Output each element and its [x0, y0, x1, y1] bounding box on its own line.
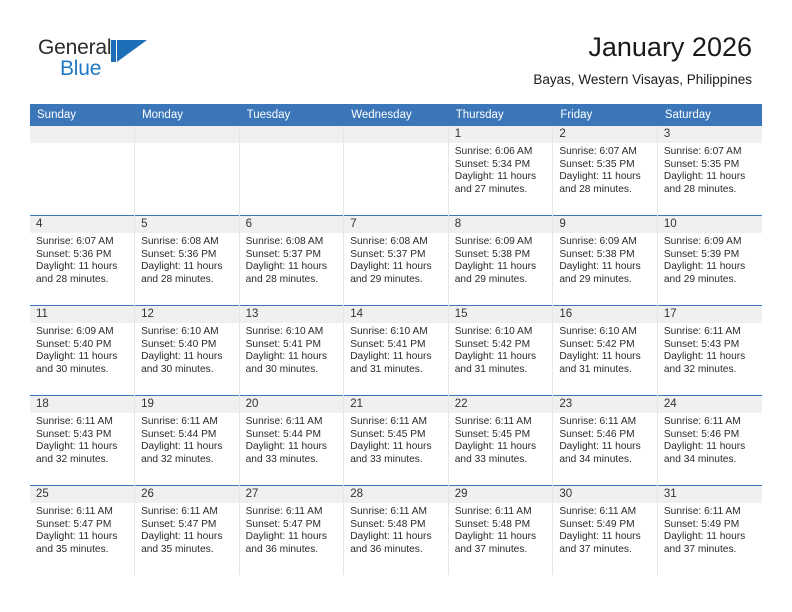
daylight-text-line2: and 37 minutes. — [559, 544, 651, 557]
calendar-day-cell[interactable]: 1Sunrise: 6:06 AMSunset: 5:34 PMDaylight… — [448, 126, 553, 216]
day-cell-details: Sunrise: 6:10 AMSunset: 5:40 PMDaylight:… — [135, 323, 239, 376]
day-number: 21 — [344, 396, 448, 413]
sunset-text: Sunset: 5:37 PM — [246, 249, 338, 262]
daylight-text-line2: and 30 minutes. — [36, 364, 128, 377]
location-subtitle: Bayas, Western Visayas, Philippines — [533, 70, 752, 90]
sunset-text: Sunset: 5:45 PM — [350, 429, 442, 442]
calendar-table: Sunday Monday Tuesday Wednesday Thursday… — [30, 104, 762, 575]
day-cell-details: Sunrise: 6:11 AMSunset: 5:46 PMDaylight:… — [658, 413, 762, 466]
day-cell-inner: 2Sunrise: 6:07 AMSunset: 5:35 PMDaylight… — [553, 126, 657, 215]
daylight-text-line2: and 36 minutes. — [350, 544, 442, 557]
sunrise-text: Sunrise: 6:06 AM — [455, 146, 547, 159]
day-cell-inner: 29Sunrise: 6:11 AMSunset: 5:48 PMDayligh… — [449, 486, 553, 575]
day-cell-inner: 11Sunrise: 6:09 AMSunset: 5:40 PMDayligh… — [30, 306, 134, 395]
day-cell-inner — [344, 126, 448, 215]
calendar-day-cell[interactable]: 19Sunrise: 6:11 AMSunset: 5:44 PMDayligh… — [135, 396, 240, 486]
daylight-text-line1: Daylight: 11 hours — [559, 531, 651, 544]
daylight-text-line2: and 30 minutes. — [246, 364, 338, 377]
calendar-week-row: 18Sunrise: 6:11 AMSunset: 5:43 PMDayligh… — [30, 396, 762, 486]
calendar-day-cell[interactable]: 20Sunrise: 6:11 AMSunset: 5:44 PMDayligh… — [239, 396, 344, 486]
day-number — [30, 126, 134, 143]
day-number: 1 — [449, 126, 553, 143]
daylight-text-line2: and 33 minutes. — [350, 454, 442, 467]
day-number: 3 — [658, 126, 762, 143]
day-cell-details: Sunrise: 6:08 AMSunset: 5:36 PMDaylight:… — [135, 233, 239, 286]
daylight-text-line2: and 33 minutes. — [246, 454, 338, 467]
sunset-text: Sunset: 5:49 PM — [664, 519, 756, 532]
weekday-header-wednesday: Wednesday — [344, 104, 449, 126]
sunset-text: Sunset: 5:46 PM — [664, 429, 756, 442]
sunrise-text: Sunrise: 6:11 AM — [455, 506, 547, 519]
day-number: 12 — [135, 306, 239, 323]
brand-name-blue: Blue — [60, 57, 101, 81]
daylight-text-line2: and 32 minutes. — [36, 454, 128, 467]
daylight-text-line1: Daylight: 11 hours — [664, 531, 756, 544]
sunset-text: Sunset: 5:41 PM — [246, 339, 338, 352]
day-cell-details: Sunrise: 6:10 AMSunset: 5:41 PMDaylight:… — [344, 323, 448, 376]
day-number: 26 — [135, 486, 239, 503]
day-cell-inner: 25Sunrise: 6:11 AMSunset: 5:47 PMDayligh… — [30, 486, 134, 575]
daylight-text-line1: Daylight: 11 hours — [141, 261, 233, 274]
weekday-header-tuesday: Tuesday — [239, 104, 344, 126]
daylight-text-line2: and 36 minutes. — [246, 544, 338, 557]
sunset-text: Sunset: 5:36 PM — [141, 249, 233, 262]
calendar-day-cell[interactable]: 30Sunrise: 6:11 AMSunset: 5:49 PMDayligh… — [553, 486, 658, 576]
day-cell-details: Sunrise: 6:09 AMSunset: 5:39 PMDaylight:… — [658, 233, 762, 286]
calendar-day-cell[interactable]: 4Sunrise: 6:07 AMSunset: 5:36 PMDaylight… — [30, 216, 135, 306]
day-number: 31 — [658, 486, 762, 503]
calendar-day-cell — [344, 126, 449, 216]
day-cell-inner: 22Sunrise: 6:11 AMSunset: 5:45 PMDayligh… — [449, 396, 553, 485]
weekday-header-thursday: Thursday — [448, 104, 553, 126]
sunset-text: Sunset: 5:48 PM — [350, 519, 442, 532]
sunset-text: Sunset: 5:49 PM — [559, 519, 651, 532]
calendar-week-row: 11Sunrise: 6:09 AMSunset: 5:40 PMDayligh… — [30, 306, 762, 396]
sunrise-text: Sunrise: 6:08 AM — [141, 236, 233, 249]
day-number: 29 — [449, 486, 553, 503]
day-cell-details: Sunrise: 6:11 AMSunset: 5:47 PMDaylight:… — [135, 503, 239, 556]
sunset-text: Sunset: 5:42 PM — [455, 339, 547, 352]
calendar-day-cell[interactable]: 6Sunrise: 6:08 AMSunset: 5:37 PMDaylight… — [239, 216, 344, 306]
sunrise-text: Sunrise: 6:07 AM — [36, 236, 128, 249]
daylight-text-line2: and 31 minutes. — [350, 364, 442, 377]
calendar-day-cell[interactable]: 7Sunrise: 6:08 AMSunset: 5:37 PMDaylight… — [344, 216, 449, 306]
day-cell-inner — [135, 126, 239, 215]
day-cell-details: Sunrise: 6:07 AMSunset: 5:36 PMDaylight:… — [30, 233, 134, 286]
day-cell-inner: 27Sunrise: 6:11 AMSunset: 5:47 PMDayligh… — [240, 486, 344, 575]
calendar-day-cell[interactable]: 22Sunrise: 6:11 AMSunset: 5:45 PMDayligh… — [448, 396, 553, 486]
daylight-text-line1: Daylight: 11 hours — [246, 261, 338, 274]
calendar-day-cell[interactable]: 31Sunrise: 6:11 AMSunset: 5:49 PMDayligh… — [657, 486, 762, 576]
day-cell-details: Sunrise: 6:08 AMSunset: 5:37 PMDaylight:… — [344, 233, 448, 286]
daylight-text-line1: Daylight: 11 hours — [350, 261, 442, 274]
calendar-week-row: 25Sunrise: 6:11 AMSunset: 5:47 PMDayligh… — [30, 486, 762, 576]
day-cell-details: Sunrise: 6:09 AMSunset: 5:40 PMDaylight:… — [30, 323, 134, 376]
day-number: 28 — [344, 486, 448, 503]
calendar-day-cell[interactable]: 23Sunrise: 6:11 AMSunset: 5:46 PMDayligh… — [553, 396, 658, 486]
sunrise-text: Sunrise: 6:11 AM — [36, 506, 128, 519]
day-cell-details: Sunrise: 6:11 AMSunset: 5:46 PMDaylight:… — [553, 413, 657, 466]
day-cell-inner: 9Sunrise: 6:09 AMSunset: 5:38 PMDaylight… — [553, 216, 657, 305]
calendar-day-cell[interactable]: 26Sunrise: 6:11 AMSunset: 5:47 PMDayligh… — [135, 486, 240, 576]
calendar-page: General Blue January 2026 Bayas, Western… — [0, 0, 792, 612]
sunrise-text: Sunrise: 6:09 AM — [455, 236, 547, 249]
daylight-text-line1: Daylight: 11 hours — [455, 261, 547, 274]
day-cell-inner: 18Sunrise: 6:11 AMSunset: 5:43 PMDayligh… — [30, 396, 134, 485]
sunset-text: Sunset: 5:47 PM — [36, 519, 128, 532]
daylight-text-line2: and 37 minutes. — [664, 544, 756, 557]
day-number: 7 — [344, 216, 448, 233]
day-cell-details: Sunrise: 6:09 AMSunset: 5:38 PMDaylight:… — [449, 233, 553, 286]
sunrise-text: Sunrise: 6:11 AM — [141, 506, 233, 519]
daylight-text-line1: Daylight: 11 hours — [246, 441, 338, 454]
calendar-day-cell[interactable]: 15Sunrise: 6:10 AMSunset: 5:42 PMDayligh… — [448, 306, 553, 396]
sunrise-text: Sunrise: 6:11 AM — [350, 416, 442, 429]
day-cell-details: Sunrise: 6:07 AMSunset: 5:35 PMDaylight:… — [553, 143, 657, 196]
daylight-text-line1: Daylight: 11 hours — [141, 351, 233, 364]
day-number — [240, 126, 344, 143]
daylight-text-line1: Daylight: 11 hours — [664, 351, 756, 364]
sunset-text: Sunset: 5:38 PM — [455, 249, 547, 262]
sunrise-text: Sunrise: 6:10 AM — [455, 326, 547, 339]
day-cell-inner: 10Sunrise: 6:09 AMSunset: 5:39 PMDayligh… — [658, 216, 762, 305]
daylight-text-line1: Daylight: 11 hours — [141, 441, 233, 454]
logo-triangle-shape — [117, 40, 147, 62]
calendar-day-cell[interactable]: 25Sunrise: 6:11 AMSunset: 5:47 PMDayligh… — [30, 486, 135, 576]
calendar-week-row: 4Sunrise: 6:07 AMSunset: 5:36 PMDaylight… — [30, 216, 762, 306]
day-cell-details: Sunrise: 6:06 AMSunset: 5:34 PMDaylight:… — [449, 143, 553, 196]
calendar-day-cell[interactable]: 24Sunrise: 6:11 AMSunset: 5:46 PMDayligh… — [657, 396, 762, 486]
sunset-text: Sunset: 5:39 PM — [664, 249, 756, 262]
daylight-text-line2: and 29 minutes. — [455, 274, 547, 287]
sunrise-text: Sunrise: 6:11 AM — [664, 326, 756, 339]
calendar-body: 1Sunrise: 6:06 AMSunset: 5:34 PMDaylight… — [30, 126, 762, 575]
day-cell-inner: 31Sunrise: 6:11 AMSunset: 5:49 PMDayligh… — [658, 486, 762, 575]
daylight-text-line1: Daylight: 11 hours — [141, 531, 233, 544]
day-number: 4 — [30, 216, 134, 233]
calendar-day-cell[interactable]: 21Sunrise: 6:11 AMSunset: 5:45 PMDayligh… — [344, 396, 449, 486]
day-cell-inner: 24Sunrise: 6:11 AMSunset: 5:46 PMDayligh… — [658, 396, 762, 485]
sunrise-text: Sunrise: 6:11 AM — [559, 416, 651, 429]
calendar-day-cell[interactable]: 8Sunrise: 6:09 AMSunset: 5:38 PMDaylight… — [448, 216, 553, 306]
day-number: 9 — [553, 216, 657, 233]
day-cell-details: Sunrise: 6:11 AMSunset: 5:47 PMDaylight:… — [240, 503, 344, 556]
calendar-day-cell[interactable]: 9Sunrise: 6:09 AMSunset: 5:38 PMDaylight… — [553, 216, 658, 306]
daylight-text-line1: Daylight: 11 hours — [36, 531, 128, 544]
sunrise-text: Sunrise: 6:09 AM — [559, 236, 651, 249]
sunset-text: Sunset: 5:41 PM — [350, 339, 442, 352]
day-cell-details: Sunrise: 6:11 AMSunset: 5:49 PMDaylight:… — [553, 503, 657, 556]
daylight-text-line2: and 29 minutes. — [350, 274, 442, 287]
day-cell-inner: 5Sunrise: 6:08 AMSunset: 5:36 PMDaylight… — [135, 216, 239, 305]
sunset-text: Sunset: 5:40 PM — [141, 339, 233, 352]
day-number: 19 — [135, 396, 239, 413]
calendar-day-cell — [30, 126, 135, 216]
daylight-text-line1: Daylight: 11 hours — [559, 351, 651, 364]
daylight-text-line2: and 32 minutes. — [664, 364, 756, 377]
day-number: 18 — [30, 396, 134, 413]
sunrise-text: Sunrise: 6:11 AM — [36, 416, 128, 429]
daylight-text-line2: and 35 minutes. — [141, 544, 233, 557]
sunrise-text: Sunrise: 6:11 AM — [664, 416, 756, 429]
daylight-text-line2: and 28 minutes. — [559, 184, 651, 197]
page-title: January 2026 — [533, 30, 752, 64]
day-number: 16 — [553, 306, 657, 323]
day-cell-inner: 26Sunrise: 6:11 AMSunset: 5:47 PMDayligh… — [135, 486, 239, 575]
calendar-day-cell[interactable]: 29Sunrise: 6:11 AMSunset: 5:48 PMDayligh… — [448, 486, 553, 576]
day-number: 27 — [240, 486, 344, 503]
sunrise-text: Sunrise: 6:11 AM — [246, 506, 338, 519]
day-number: 25 — [30, 486, 134, 503]
sunrise-text: Sunrise: 6:11 AM — [350, 506, 442, 519]
daylight-text-line1: Daylight: 11 hours — [350, 441, 442, 454]
daylight-text-line1: Daylight: 11 hours — [246, 531, 338, 544]
day-cell-details: Sunrise: 6:11 AMSunset: 5:48 PMDaylight:… — [449, 503, 553, 556]
calendar-day-cell — [135, 126, 240, 216]
logo-bar-shape — [111, 40, 116, 62]
day-number: 13 — [240, 306, 344, 323]
day-cell-inner: 20Sunrise: 6:11 AMSunset: 5:44 PMDayligh… — [240, 396, 344, 485]
daylight-text-line2: and 34 minutes. — [664, 454, 756, 467]
day-cell-details: Sunrise: 6:11 AMSunset: 5:44 PMDaylight:… — [240, 413, 344, 466]
sunset-text: Sunset: 5:34 PM — [455, 159, 547, 172]
day-cell-inner: 28Sunrise: 6:11 AMSunset: 5:48 PMDayligh… — [344, 486, 448, 575]
calendar-day-cell — [239, 126, 344, 216]
day-cell-details: Sunrise: 6:10 AMSunset: 5:41 PMDaylight:… — [240, 323, 344, 376]
daylight-text-line1: Daylight: 11 hours — [455, 351, 547, 364]
day-cell-details: Sunrise: 6:10 AMSunset: 5:42 PMDaylight:… — [449, 323, 553, 376]
sunrise-text: Sunrise: 6:10 AM — [350, 326, 442, 339]
daylight-text-line2: and 35 minutes. — [36, 544, 128, 557]
sunrise-text: Sunrise: 6:11 AM — [559, 506, 651, 519]
day-cell-details: Sunrise: 6:11 AMSunset: 5:45 PMDaylight:… — [344, 413, 448, 466]
day-cell-inner: 12Sunrise: 6:10 AMSunset: 5:40 PMDayligh… — [135, 306, 239, 395]
daylight-text-line2: and 37 minutes. — [455, 544, 547, 557]
daylight-text-line1: Daylight: 11 hours — [246, 351, 338, 364]
daylight-text-line2: and 32 minutes. — [141, 454, 233, 467]
title-block: January 2026 Bayas, Western Visayas, Phi… — [533, 30, 752, 90]
day-number: 23 — [553, 396, 657, 413]
daylight-text-line2: and 29 minutes. — [664, 274, 756, 287]
day-cell-details: Sunrise: 6:09 AMSunset: 5:38 PMDaylight:… — [553, 233, 657, 286]
day-number: 11 — [30, 306, 134, 323]
sunrise-text: Sunrise: 6:10 AM — [559, 326, 651, 339]
calendar-header-row: Sunday Monday Tuesday Wednesday Thursday… — [30, 104, 762, 126]
daylight-text-line1: Daylight: 11 hours — [36, 261, 128, 274]
sunrise-text: Sunrise: 6:07 AM — [664, 146, 756, 159]
daylight-text-line2: and 33 minutes. — [455, 454, 547, 467]
day-cell-inner: 3Sunrise: 6:07 AMSunset: 5:35 PMDaylight… — [658, 126, 762, 215]
day-cell-inner: 21Sunrise: 6:11 AMSunset: 5:45 PMDayligh… — [344, 396, 448, 485]
calendar-day-cell[interactable]: 28Sunrise: 6:11 AMSunset: 5:48 PMDayligh… — [344, 486, 449, 576]
day-cell-details: Sunrise: 6:11 AMSunset: 5:47 PMDaylight:… — [30, 503, 134, 556]
sunset-text: Sunset: 5:47 PM — [141, 519, 233, 532]
day-cell-inner: 4Sunrise: 6:07 AMSunset: 5:36 PMDaylight… — [30, 216, 134, 305]
daylight-text-line1: Daylight: 11 hours — [559, 441, 651, 454]
day-number: 20 — [240, 396, 344, 413]
calendar-day-cell[interactable]: 14Sunrise: 6:10 AMSunset: 5:41 PMDayligh… — [344, 306, 449, 396]
daylight-text-line1: Daylight: 11 hours — [36, 441, 128, 454]
daylight-text-line1: Daylight: 11 hours — [350, 351, 442, 364]
daylight-text-line2: and 30 minutes. — [141, 364, 233, 377]
day-number: 6 — [240, 216, 344, 233]
sunset-text: Sunset: 5:42 PM — [559, 339, 651, 352]
daylight-text-line2: and 28 minutes. — [664, 184, 756, 197]
day-cell-details: Sunrise: 6:11 AMSunset: 5:43 PMDaylight:… — [658, 323, 762, 376]
brand-logo[interactable]: General Blue — [38, 36, 158, 84]
sunrise-text: Sunrise: 6:08 AM — [350, 236, 442, 249]
sunrise-text: Sunrise: 6:10 AM — [141, 326, 233, 339]
calendar-day-cell[interactable]: 13Sunrise: 6:10 AMSunset: 5:41 PMDayligh… — [239, 306, 344, 396]
daylight-text-line1: Daylight: 11 hours — [455, 441, 547, 454]
daylight-text-line1: Daylight: 11 hours — [455, 531, 547, 544]
calendar-day-cell[interactable]: 10Sunrise: 6:09 AMSunset: 5:39 PMDayligh… — [657, 216, 762, 306]
sunset-text: Sunset: 5:47 PM — [246, 519, 338, 532]
sunset-text: Sunset: 5:48 PM — [455, 519, 547, 532]
daylight-text-line2: and 31 minutes. — [455, 364, 547, 377]
day-cell-details: Sunrise: 6:11 AMSunset: 5:49 PMDaylight:… — [658, 503, 762, 556]
day-number — [344, 126, 448, 143]
sunset-text: Sunset: 5:46 PM — [559, 429, 651, 442]
calendar-day-cell[interactable]: 27Sunrise: 6:11 AMSunset: 5:47 PMDayligh… — [239, 486, 344, 576]
day-cell-inner: 1Sunrise: 6:06 AMSunset: 5:34 PMDaylight… — [449, 126, 553, 215]
day-number: 14 — [344, 306, 448, 323]
calendar-day-cell[interactable]: 11Sunrise: 6:09 AMSunset: 5:40 PMDayligh… — [30, 306, 135, 396]
daylight-text-line1: Daylight: 11 hours — [559, 261, 651, 274]
day-number: 15 — [449, 306, 553, 323]
sunset-text: Sunset: 5:45 PM — [455, 429, 547, 442]
day-cell-details: Sunrise: 6:10 AMSunset: 5:42 PMDaylight:… — [553, 323, 657, 376]
daylight-text-line1: Daylight: 11 hours — [455, 171, 547, 184]
day-cell-details: Sunrise: 6:11 AMSunset: 5:48 PMDaylight:… — [344, 503, 448, 556]
day-number: 2 — [553, 126, 657, 143]
daylight-text-line1: Daylight: 11 hours — [664, 261, 756, 274]
daylight-text-line1: Daylight: 11 hours — [350, 531, 442, 544]
day-cell-inner: 23Sunrise: 6:11 AMSunset: 5:46 PMDayligh… — [553, 396, 657, 485]
day-number: 24 — [658, 396, 762, 413]
day-number — [135, 126, 239, 143]
day-number: 5 — [135, 216, 239, 233]
day-number: 22 — [449, 396, 553, 413]
daylight-text-line2: and 34 minutes. — [559, 454, 651, 467]
day-cell-inner: 8Sunrise: 6:09 AMSunset: 5:38 PMDaylight… — [449, 216, 553, 305]
day-cell-inner: 17Sunrise: 6:11 AMSunset: 5:43 PMDayligh… — [658, 306, 762, 395]
sunset-text: Sunset: 5:35 PM — [664, 159, 756, 172]
triangle-flag-mark-icon — [111, 40, 147, 62]
daylight-text-line1: Daylight: 11 hours — [559, 171, 651, 184]
sunrise-text: Sunrise: 6:10 AM — [246, 326, 338, 339]
sunrise-text: Sunrise: 6:09 AM — [664, 236, 756, 249]
day-cell-inner: 6Sunrise: 6:08 AMSunset: 5:37 PMDaylight… — [240, 216, 344, 305]
sunset-text: Sunset: 5:37 PM — [350, 249, 442, 262]
sunrise-text: Sunrise: 6:11 AM — [141, 416, 233, 429]
day-cell-details: Sunrise: 6:07 AMSunset: 5:35 PMDaylight:… — [658, 143, 762, 196]
day-cell-details: Sunrise: 6:11 AMSunset: 5:45 PMDaylight:… — [449, 413, 553, 466]
sunset-text: Sunset: 5:38 PM — [559, 249, 651, 262]
day-cell-details: Sunrise: 6:11 AMSunset: 5:44 PMDaylight:… — [135, 413, 239, 466]
calendar-day-cell[interactable]: 5Sunrise: 6:08 AMSunset: 5:36 PMDaylight… — [135, 216, 240, 306]
day-cell-inner: 16Sunrise: 6:10 AMSunset: 5:42 PMDayligh… — [553, 306, 657, 395]
daylight-text-line1: Daylight: 11 hours — [664, 441, 756, 454]
day-cell-inner — [240, 126, 344, 215]
calendar-day-cell[interactable]: 2Sunrise: 6:07 AMSunset: 5:35 PMDaylight… — [553, 126, 658, 216]
sunset-text: Sunset: 5:36 PM — [36, 249, 128, 262]
weekday-header-sunday: Sunday — [30, 104, 135, 126]
sunset-text: Sunset: 5:43 PM — [664, 339, 756, 352]
daylight-text-line2: and 31 minutes. — [559, 364, 651, 377]
daylight-text-line1: Daylight: 11 hours — [36, 351, 128, 364]
sunrise-text: Sunrise: 6:11 AM — [664, 506, 756, 519]
weekday-header-monday: Monday — [135, 104, 240, 126]
sunrise-text: Sunrise: 6:09 AM — [36, 326, 128, 339]
calendar-day-cell[interactable]: 12Sunrise: 6:10 AMSunset: 5:40 PMDayligh… — [135, 306, 240, 396]
day-cell-details: Sunrise: 6:08 AMSunset: 5:37 PMDaylight:… — [240, 233, 344, 286]
day-cell-inner: 7Sunrise: 6:08 AMSunset: 5:37 PMDaylight… — [344, 216, 448, 305]
sunset-text: Sunset: 5:44 PM — [141, 429, 233, 442]
calendar-week-row: 1Sunrise: 6:06 AMSunset: 5:34 PMDaylight… — [30, 126, 762, 216]
day-number: 17 — [658, 306, 762, 323]
day-cell-inner — [30, 126, 134, 215]
day-cell-inner: 30Sunrise: 6:11 AMSunset: 5:49 PMDayligh… — [553, 486, 657, 575]
day-cell-inner: 13Sunrise: 6:10 AMSunset: 5:41 PMDayligh… — [240, 306, 344, 395]
daylight-text-line1: Daylight: 11 hours — [664, 171, 756, 184]
calendar-day-cell[interactable]: 16Sunrise: 6:10 AMSunset: 5:42 PMDayligh… — [553, 306, 658, 396]
calendar-day-cell[interactable]: 17Sunrise: 6:11 AMSunset: 5:43 PMDayligh… — [657, 306, 762, 396]
daylight-text-line2: and 27 minutes. — [455, 184, 547, 197]
day-cell-details: Sunrise: 6:11 AMSunset: 5:43 PMDaylight:… — [30, 413, 134, 466]
day-cell-inner: 14Sunrise: 6:10 AMSunset: 5:41 PMDayligh… — [344, 306, 448, 395]
sunset-text: Sunset: 5:40 PM — [36, 339, 128, 352]
daylight-text-line2: and 28 minutes. — [36, 274, 128, 287]
weekday-header-friday: Friday — [553, 104, 658, 126]
day-cell-inner: 19Sunrise: 6:11 AMSunset: 5:44 PMDayligh… — [135, 396, 239, 485]
daylight-text-line2: and 29 minutes. — [559, 274, 651, 287]
sunrise-text: Sunrise: 6:07 AM — [559, 146, 651, 159]
day-number: 30 — [553, 486, 657, 503]
sunrise-text: Sunrise: 6:11 AM — [455, 416, 547, 429]
sunset-text: Sunset: 5:43 PM — [36, 429, 128, 442]
daylight-text-line2: and 28 minutes. — [246, 274, 338, 287]
day-number: 8 — [449, 216, 553, 233]
sunrise-text: Sunrise: 6:11 AM — [246, 416, 338, 429]
daylight-text-line2: and 28 minutes. — [141, 274, 233, 287]
page-header: General Blue January 2026 Bayas, Western… — [0, 0, 792, 100]
day-cell-inner: 15Sunrise: 6:10 AMSunset: 5:42 PMDayligh… — [449, 306, 553, 395]
sunrise-text: Sunrise: 6:08 AM — [246, 236, 338, 249]
calendar-day-cell[interactable]: 18Sunrise: 6:11 AMSunset: 5:43 PMDayligh… — [30, 396, 135, 486]
day-number: 10 — [658, 216, 762, 233]
sunset-text: Sunset: 5:44 PM — [246, 429, 338, 442]
sunset-text: Sunset: 5:35 PM — [559, 159, 651, 172]
calendar-day-cell[interactable]: 3Sunrise: 6:07 AMSunset: 5:35 PMDaylight… — [657, 126, 762, 216]
weekday-header-saturday: Saturday — [657, 104, 762, 126]
